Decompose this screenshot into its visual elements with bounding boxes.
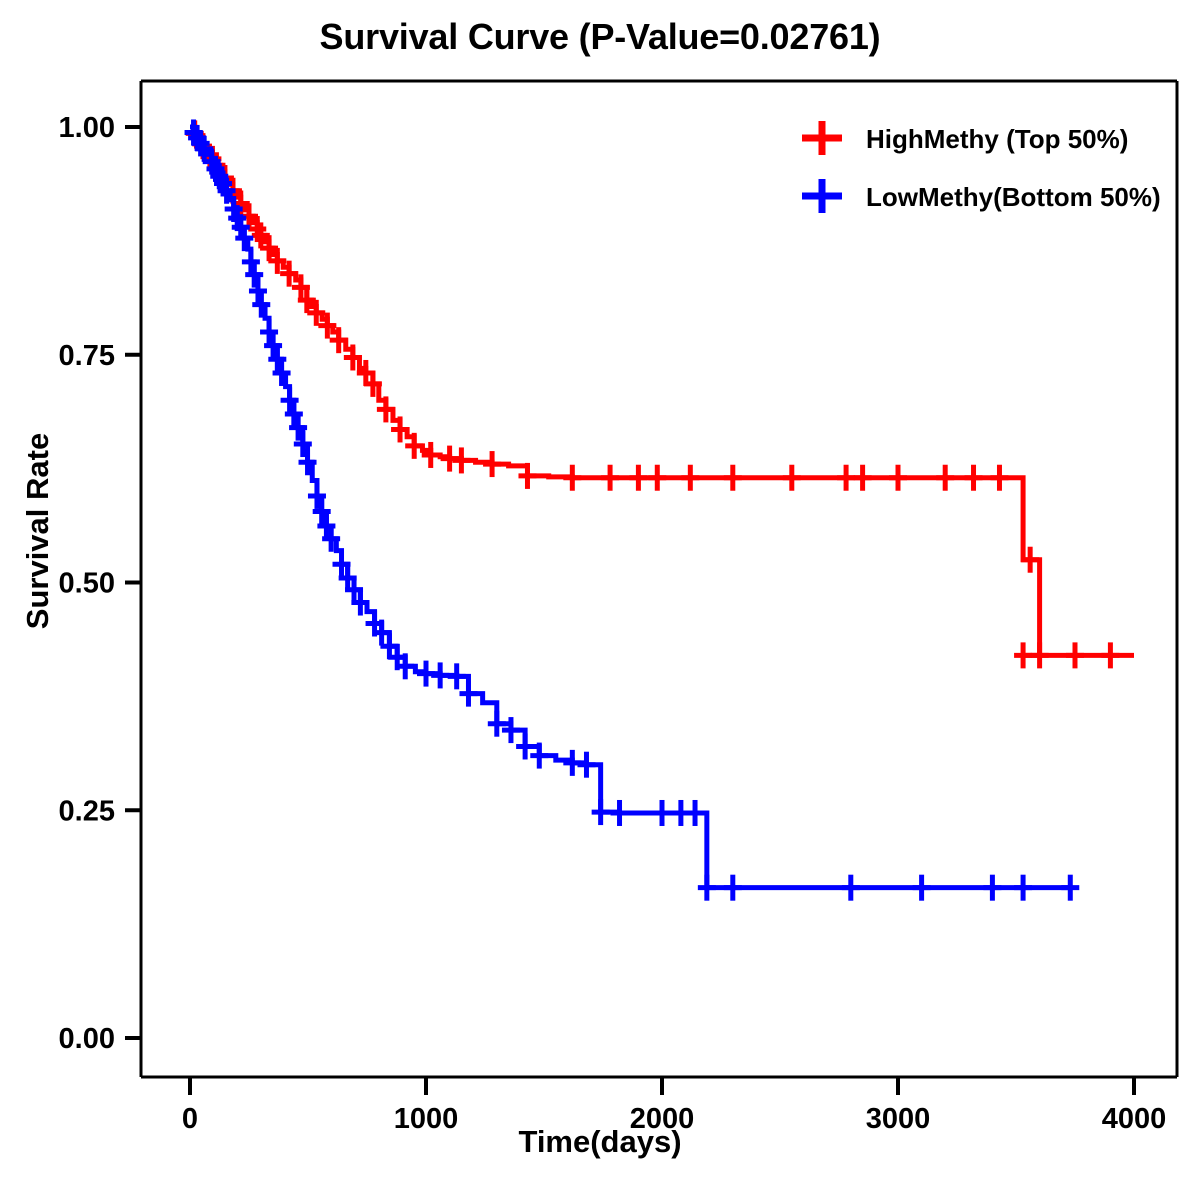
series-layer — [185, 119, 1134, 900]
censor-mark — [681, 465, 699, 491]
censor-mark — [1014, 875, 1032, 901]
censor-mark — [431, 662, 449, 688]
censor-mark — [842, 875, 860, 901]
censor-mark — [653, 800, 671, 826]
legend-label: LowMethy(Bottom 50%) — [866, 182, 1161, 212]
censor-mark — [483, 451, 501, 477]
censor-mark — [242, 249, 260, 275]
censor-mark — [452, 447, 470, 473]
axes-frame — [141, 81, 1177, 1077]
censor-mark — [913, 875, 931, 901]
censor-mark — [783, 465, 801, 491]
legend-item[interactable]: HighMethy (Top 50%) — [802, 121, 1128, 155]
censor-mark — [686, 800, 704, 826]
y-axis-ticks: 0.000.250.500.751.00 — [59, 112, 141, 1055]
censor-mark — [965, 465, 983, 491]
censor-mark — [1031, 642, 1049, 668]
y-tick-label: 0.25 — [59, 795, 115, 827]
censor-mark — [249, 278, 267, 304]
censor-mark — [1014, 642, 1032, 668]
x-tick-label: 4000 — [1102, 1103, 1167, 1135]
legend-plus-icon — [802, 179, 842, 213]
censor-mark — [252, 292, 270, 318]
censor-mark — [502, 717, 520, 743]
x-axis-ticks: 01000200030004000 — [182, 1077, 1166, 1135]
y-tick-label: 0.50 — [59, 568, 115, 600]
censor-mark — [448, 663, 466, 689]
plot-area: 0.000.250.500.751.00 01000200030004000 H… — [0, 0, 1200, 1200]
censor-mark — [459, 681, 477, 707]
censor-mark — [889, 465, 907, 491]
censor-mark — [1066, 642, 1084, 668]
x-tick-label: 1000 — [394, 1103, 459, 1135]
censor-mark — [577, 752, 595, 778]
chart-legend: HighMethy (Top 50%)LowMethy(Bottom 50%) — [802, 121, 1161, 213]
censor-mark — [648, 465, 666, 491]
censor-mark — [629, 465, 647, 491]
censor-mark — [245, 262, 263, 288]
censor-mark — [592, 799, 610, 825]
x-tick-label: 0 — [182, 1103, 198, 1135]
legend-plus-icon — [802, 121, 842, 155]
censor-mark — [488, 711, 506, 737]
censor-mark — [724, 465, 742, 491]
censor-mark — [990, 465, 1008, 491]
censor-mark — [1101, 642, 1119, 668]
censor-mark — [936, 465, 954, 491]
y-tick-label: 1.00 — [59, 112, 115, 144]
y-tick-label: 0.75 — [59, 340, 115, 372]
y-tick-label: 0.00 — [59, 1023, 115, 1055]
censor-mark — [611, 800, 629, 826]
censor-mark — [837, 465, 855, 491]
survival-curve-figure: Survival Curve (P-Value=0.02761) Surviva… — [0, 0, 1200, 1200]
censor-mark — [983, 875, 1001, 901]
x-tick-label: 3000 — [866, 1103, 931, 1135]
censor-mark — [698, 875, 716, 901]
censor-mark — [601, 465, 619, 491]
x-tick-label: 2000 — [630, 1103, 695, 1135]
censor-mark — [563, 465, 581, 491]
legend-item[interactable]: LowMethy(Bottom 50%) — [802, 179, 1161, 213]
censor-mark — [854, 465, 872, 491]
legend-label: HighMethy (Top 50%) — [866, 124, 1128, 154]
censor-mark — [1061, 875, 1079, 901]
censor-mark — [724, 875, 742, 901]
